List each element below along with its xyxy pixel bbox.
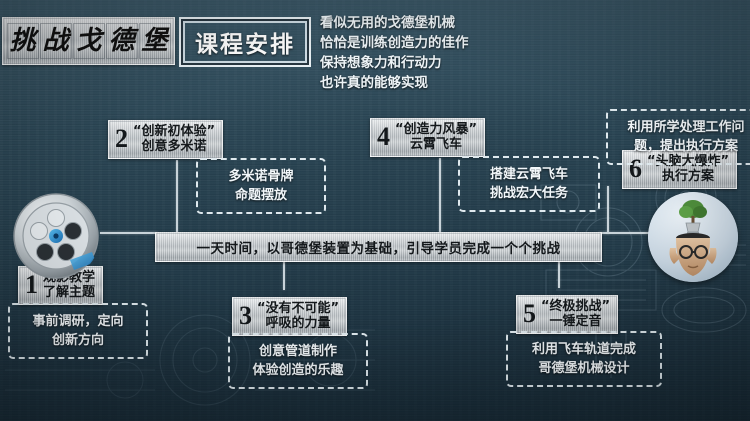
step-2-line1: “创新初体验” [133,124,215,139]
step-1-line2: 了解主题 [43,285,95,300]
schedule-heading-box: 课程安排 [179,17,311,67]
step-3-note-line2: 体验创造的乐趣 [252,361,343,380]
connector-step-6 [607,186,609,234]
connector-step-2 [176,160,178,234]
step-5-note-line2: 哥德堡机械设计 [538,359,629,378]
step-6-note: 利用所学处理工作问 题，提出执行方案 [606,109,750,165]
step-4-note-line1: 搭建云霄飞车 [490,165,568,184]
step-1-note-line2: 创新方向 [52,331,104,350]
course-title-plate: 挑 战 戈 德 堡 [2,17,175,65]
intro-line-3: 也许真的能够实现 [320,73,620,93]
step-4-number: 4 [377,124,390,150]
step-3-line2: 呼吸的力量 [257,316,339,331]
step-2-plate[interactable]: 2 “创新初体验” 创意多米诺 [108,120,223,159]
connector-step-3 [283,258,285,290]
step-5-line2: 一锤定音 [541,314,610,329]
step-5-line1: “终极挑战” [541,299,610,314]
main-summary-bar: 一天时间，以哥德堡装置为基础，引导学员完成一个个挑战 [155,232,602,262]
step-3-line1: “没有不可能” [257,301,339,316]
step-2-note-line1: 多米诺骨牌 [228,167,293,186]
step-1-note-line1: 事前调研，定向 [32,312,123,331]
blueprint-line-doodle [5,350,165,420]
step-6-note-line1: 利用所学处理工作问 [627,118,744,137]
film-reel-icon [12,192,100,280]
connector-step-4 [439,158,441,234]
step-2-note-line2: 命题摆放 [235,186,287,205]
title-character-grid: 挑 战 戈 德 堡 [4,21,174,61]
step-2-number: 2 [115,126,128,152]
step-4-line1: “创造力风暴” [395,122,477,137]
step-3-note-line1: 创意管道制作 [259,342,337,361]
main-summary-text: 一天时间，以哥德堡装置为基础，引导学员完成一个个挑战 [197,237,561,257]
step-4-line2: 云霄飞车 [395,137,477,152]
connector-left-icon [100,232,158,234]
title-char-2: 戈 [73,23,105,59]
intro-paragraph: 看似无用的戈德堡机械 恰恰是训练创造力的佳作 保持想象力和行动力 也许真的能够实… [320,13,620,93]
step-6-line2: 执行方案 [647,169,729,184]
step-2-note: 多米诺骨牌 命题摆放 [196,158,326,214]
schedule-heading-label: 课程安排 [195,25,295,59]
slide-canvas: 挑 战 戈 德 堡 课程安排 看似无用的戈德堡机械 恰恰是训练创造力的佳作 保持… [0,0,750,421]
step-5-note: 利用飞车轨道完成 哥德堡机械设计 [506,331,662,387]
step-3-note: 创意管道制作 体验创造的乐趣 [228,333,368,389]
title-char-4: 堡 [139,23,171,59]
step-5-plate[interactable]: 5 “终极挑战” 一锤定音 [516,295,618,334]
step-6-note-line2: 题，提出执行方案 [634,137,738,156]
step-2-line2: 创意多米诺 [133,139,215,154]
intro-line-2: 保持想象力和行动力 [320,53,620,73]
title-char-0: 挑 [7,23,39,59]
step-4-note-line2: 挑战宏大任务 [490,184,568,203]
intro-line-1: 恰恰是训练创造力的佳作 [320,33,620,53]
step-1-note: 事前调研，定向 创新方向 [8,303,148,359]
step-3-number: 3 [239,303,252,329]
step-3-plate[interactable]: 3 “没有不可能” 呼吸的力量 [232,297,347,336]
step-4-plate[interactable]: 4 “创造力风暴” 云霄飞车 [370,118,485,157]
idea-head-icon [648,192,738,282]
step-1-number: 1 [25,272,38,298]
step-4-note: 搭建云霄飞车 挑战宏大任务 [458,156,600,212]
step-5-note-line1: 利用飞车轨道完成 [532,340,636,359]
intro-line-0: 看似无用的戈德堡机械 [320,13,620,33]
connector-right-icon [598,232,650,234]
step-5-number: 5 [523,301,536,327]
connector-step-5 [558,258,560,288]
title-char-3: 德 [106,23,138,59]
title-char-1: 战 [40,23,72,59]
